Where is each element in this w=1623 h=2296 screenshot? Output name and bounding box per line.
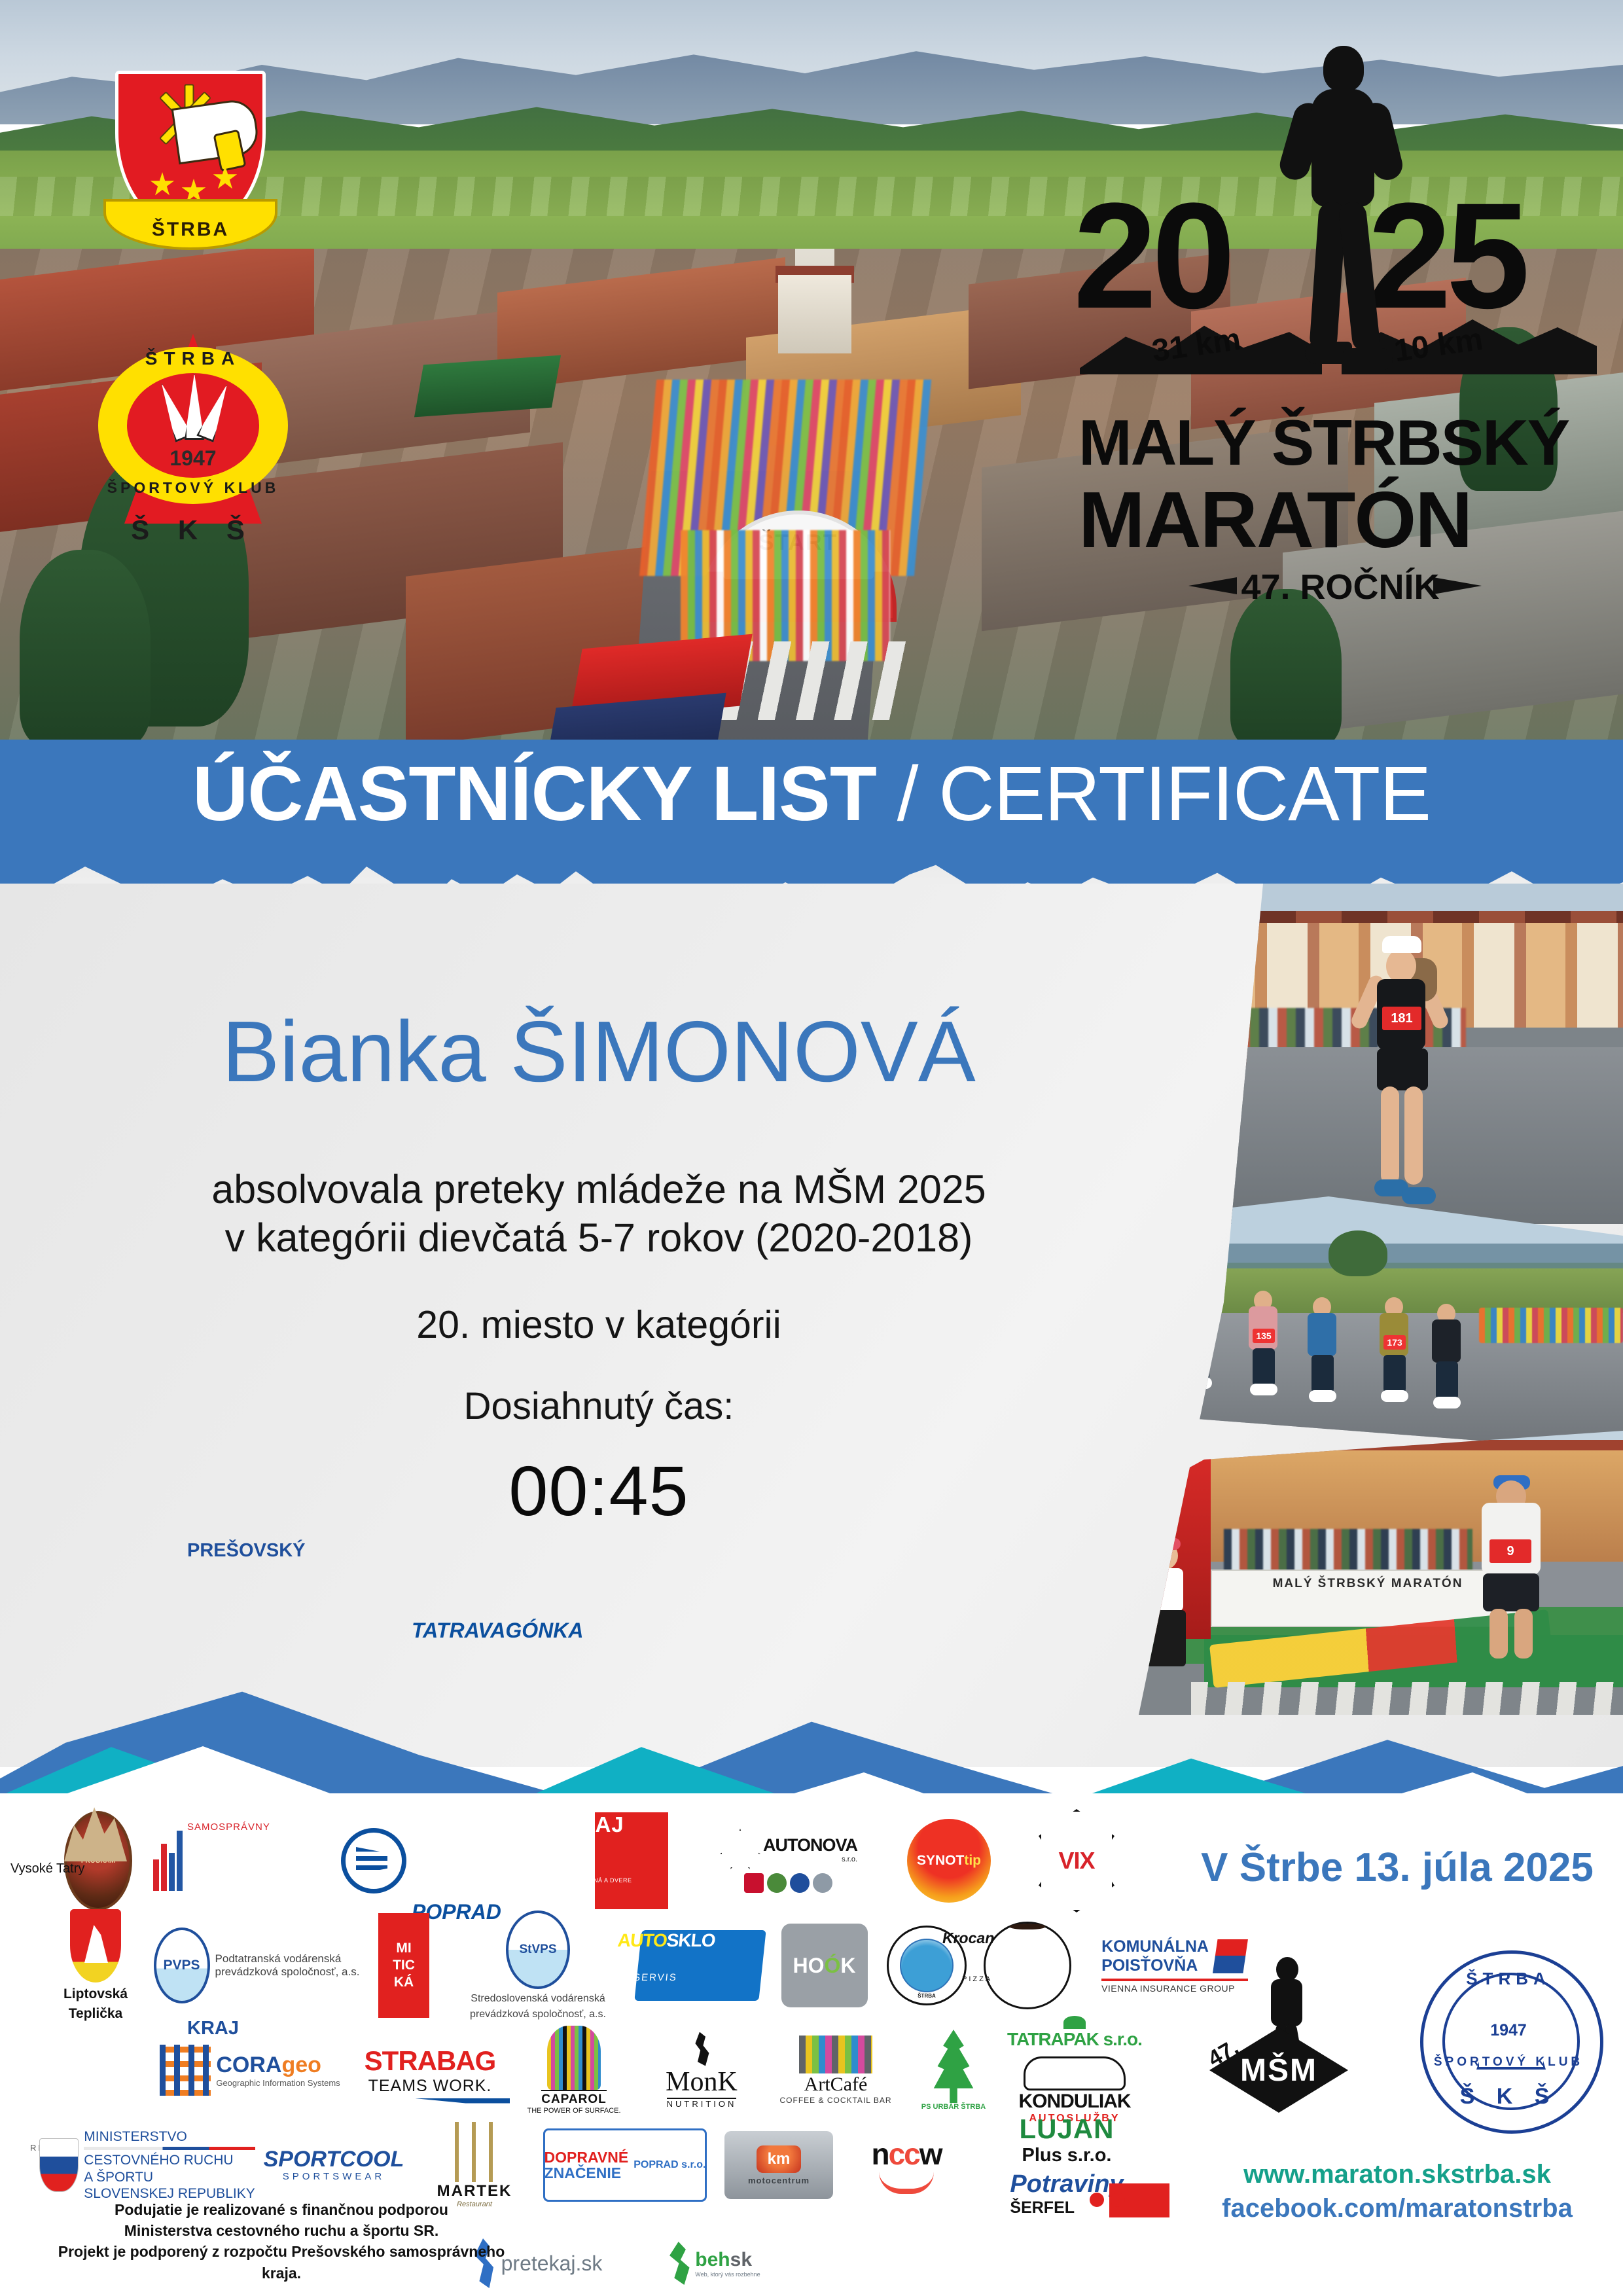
time-label: Dosiahnutý čas: — [98, 1384, 1099, 1428]
sponsor-stvps[interactable]: StVPS Stredoslovenská vodárenská prevádz… — [446, 1910, 630, 2021]
fineprint-line-1: Podujatie je realizované s finančnou pod… — [39, 2199, 524, 2220]
sponsor-presovsky-kraj[interactable]: PREŠOVSKÝ SAMOSPRÁVNY KRAJ — [157, 1805, 353, 1916]
event-edition-label: 47. ROČNÍK — [1079, 567, 1602, 607]
club-logo-top-text: ŠTRBA — [98, 348, 288, 369]
sponsor-logo: CORAgeo Geographic Information Systems — [160, 2045, 340, 2096]
runner-shoe-right — [1402, 1187, 1436, 1204]
sponsor-logo: Krocan PIZZA — [984, 1922, 1071, 2009]
sponsor-line-2: CESTOVNÉHO RUCHU — [84, 2152, 255, 2168]
sponsor-hook[interactable]: HOÓK — [770, 1910, 878, 2021]
runner-leg-right — [1404, 1086, 1423, 1185]
sponsor-line-1: km — [757, 2145, 801, 2173]
runner-shoes — [1433, 1397, 1461, 1408]
runner-singlet — [1482, 1503, 1541, 1575]
runner-torso — [1311, 89, 1374, 207]
sponsor-line-2: ZNAČENIE — [544, 2165, 629, 2181]
arm-icon — [171, 98, 261, 165]
sponsor-logo: STRABAG TEAMS WORK. — [365, 2045, 496, 2096]
slovak-coat-of-arms-icon — [39, 2138, 79, 2192]
footer-right-column: V Štrbe 13. júla 2025 MŠM 47. ŠTRBA — [1171, 1793, 1623, 2296]
page-title-slovak: ÚČASTNÍCKY LIST — [192, 751, 876, 837]
sponsor-line-2: tip — [964, 1853, 981, 1868]
sponsor-line-1: PS URBÁR ŠTRBA — [921, 2103, 986, 2111]
sponsor-logo: DOPRAVNÉ ZNAČENIE POPRAD s.r.o. — [543, 2128, 707, 2202]
runner-shoes — [1381, 1390, 1408, 1402]
coffee-cup-icon — [799, 2036, 872, 2073]
sponsor-miticka[interactable]: MI TIC KÁ — [361, 1910, 446, 2021]
dots-decoration — [1109, 2183, 1169, 2217]
time-value: 00:45 — [98, 1450, 1099, 1532]
sponsor-line-1: SYNOT — [917, 1853, 964, 1868]
car-icon — [1024, 2056, 1126, 2090]
sponsor-vysoke-tatry[interactable]: Vysoké Tatry REGIÓN — [39, 2015, 152, 2126]
runner-shoes — [1250, 1384, 1277, 1395]
sponsor-dopravne-znacenie[interactable]: DOPRAVNÉ ZNAČENIE POPRAD s.r.o. — [537, 2113, 713, 2217]
facebook-link[interactable]: facebook.com/maratonstrba — [1171, 2194, 1623, 2223]
tatravagonka-mark-icon — [341, 1828, 406, 1893]
website-link[interactable]: www.maraton.skstrba.sk — [1171, 2160, 1623, 2189]
sponsor-synottip[interactable]: SYNOTtip — [883, 1805, 1014, 1916]
divider — [84, 2147, 255, 2150]
page-title: ÚČASTNÍCKY LIST / CERTIFICATE — [0, 755, 1623, 833]
sponsor-logo: PVPS Podtatranská vodárenská prevádzková… — [154, 1928, 360, 2003]
sks-club-logo: ŠTRBA 1947 ŠPORTOVÝ KLUB Š K Š — [98, 308, 288, 556]
runner-top — [1249, 1306, 1277, 1350]
runner-head — [1276, 1957, 1298, 1982]
runner-legs — [1311, 1355, 1334, 1393]
placement-text: 20. miesto v kategórii — [98, 1302, 1099, 1347]
runner-icon — [666, 2242, 692, 2285]
sponsor-line-2: motocentrum — [748, 2176, 810, 2185]
sponsor-line-1: LUJAN — [1019, 2113, 1114, 2145]
runner-shorts — [1377, 1049, 1428, 1090]
sponsor-logo: MARTEK Restaurant — [437, 2122, 512, 2208]
sponsor-line-2: EUROOKNÁ A DVERE — [566, 1877, 697, 1909]
funding-fineprint: Podujatie je realizované s finančnou pod… — [39, 2199, 524, 2284]
sponsor-line-3: POPRAD s.r.o. — [633, 2159, 705, 2171]
runner-top — [1308, 1313, 1336, 1356]
sponsor-vix[interactable]: VIX — [1014, 1805, 1139, 1916]
sponsor-ps-urbar-strba[interactable]: PS URBÁR ŠTRBA — [904, 2015, 1003, 2126]
crest-village-label: ŠTRBA — [106, 219, 275, 241]
sponsor-line-2: NUTRITION — [667, 2098, 737, 2109]
sponsor-corageo[interactable]: CORAgeo Geographic Information Systems — [152, 2015, 348, 2126]
sponsor-line-1: MI — [396, 1941, 411, 1956]
sponsor-logo: MonK NUTRITION — [666, 2032, 738, 2109]
sponsor-line-1: beh — [695, 2249, 730, 2270]
sponsor-line-1: VIX — [1058, 1847, 1094, 1874]
smile-icon — [879, 2172, 934, 2194]
sponsor-line-1b: geo — [281, 2053, 321, 2077]
sponsor-line-1: SPORTCOOL — [264, 2148, 404, 2172]
star-icon — [213, 166, 238, 190]
sponsor-logo: PS URBÁR ŠTRBA — [921, 2030, 986, 2111]
sponsor-artcafe[interactable]: ArtCafé COFFEE & COCKTAIL BAR — [767, 2015, 904, 2126]
sponsor-line-2: TIC — [393, 1958, 415, 1973]
car-brand-badges — [744, 1873, 832, 1893]
sponsor-line-1: HO — [793, 1954, 825, 1977]
certificate-page: ŠTART ŠTRBA — [0, 0, 1623, 2296]
sponsor-logo: AUTOSKLO SERVIS — [634, 1930, 766, 2001]
sponsor-line-1: KUNAJ — [546, 1812, 717, 1859]
sponsor-logo: CAPAROL THE POWER OF SURFACE. — [527, 2026, 620, 2115]
sponsor-logo: AUTONOVA s.r.o. — [720, 1829, 857, 1893]
sponsor-krocan-pizza[interactable]: Krocan PIZZA — [975, 1910, 1080, 2021]
sponsor-line-1b: sk — [730, 2249, 752, 2270]
runner-head — [1323, 46, 1364, 92]
cutlery-icon — [448, 2122, 501, 2182]
sponsor-pvps[interactable]: PVPS Podtatranská vodárenská prevádzková… — [152, 1910, 361, 2021]
sponsor-line-1: TATRAVAGÓNKA — [412, 1619, 582, 1900]
sponsor-line-2: Stredoslovenská vodárenská — [471, 1993, 605, 2005]
runner-leg-left — [1381, 1086, 1399, 1185]
description-line-2: v kategórii dievčatá 5-7 rokov (2020-201… — [98, 1213, 1099, 1262]
turkey-icon — [1010, 1924, 1045, 1929]
event-name-line2: MARATÓN — [1079, 474, 1602, 565]
church-building — [776, 249, 854, 353]
elephant-icon — [547, 2026, 601, 2090]
runner-head — [1386, 949, 1416, 983]
sponsor-line-2: s.r.o. — [763, 1856, 857, 1863]
sponsor-line-2: PIZZA — [962, 1975, 1093, 2007]
sponsor-autonova[interactable]: AUTONOVA s.r.o. — [694, 1805, 883, 1916]
sponsor-line-1: KONDULIAK — [1019, 2090, 1131, 2113]
sponsor-line-2: ŠTRBA — [889, 1993, 965, 1999]
event-year-left: 20 — [1073, 181, 1230, 331]
runner: 173 — [1374, 1295, 1414, 1406]
gift-bow-icon — [1063, 2016, 1086, 2029]
mountain-peaks-icon — [64, 1801, 127, 1861]
race-bib-number: 173 — [1383, 1335, 1406, 1350]
sponsor-beh-sk[interactable]: behsk Web, ktorý vás rozbehne — [628, 2224, 798, 2296]
sponsor-line-3: prevádzková spoločnosť, a.s. — [215, 1965, 360, 1979]
sponsor-line-1c: w — [919, 2137, 942, 2171]
runner-legs — [1436, 1361, 1458, 1399]
sponsor-logo: HOÓK — [781, 1924, 868, 2007]
club-logo-mid-text: ŠPORTOVÝ KLUB — [98, 479, 288, 497]
race-bib-number: 9 — [1489, 1539, 1531, 1563]
sponsor-line-2: Geographic Information Systems — [216, 2078, 340, 2088]
sponsor-strabag[interactable]: STRABAG TEAMS WORK. — [348, 2015, 512, 2126]
sponsor-line-1b: SKLO — [666, 1930, 716, 1950]
sponsor-line-1c: K — [840, 1954, 855, 1977]
fir-tree-icon — [930, 2030, 977, 2103]
sponsor-row-3: Vysoké Tatry REGIÓN CORAgeo Geographic I… — [39, 2015, 1165, 2126]
sponsor-autosklo-servis[interactable]: AUTOSKLO SERVIS — [630, 1910, 770, 2021]
sponsor-line-1: STRABAG — [365, 2045, 496, 2077]
female-runner: 181 — [1348, 936, 1453, 1211]
sponsor-ncow[interactable]: nccw — [844, 2113, 969, 2217]
runner-legs — [1383, 1355, 1406, 1393]
stamp-bottom-text: Š K Š — [1420, 2084, 1597, 2109]
sponsor-logo: nccw — [871, 2136, 941, 2194]
sponsor-line-2: SERVIS — [631, 1972, 765, 2001]
sponsor-footer: PROGRAM PREŠOVSKÝ SAMOSPRÁVNY KRAJ — [0, 1793, 1623, 2296]
sponsor-logo: VIX — [1039, 1809, 1115, 1912]
runner-pack — [1479, 1308, 1623, 1343]
stamp-year: 1947 — [1420, 2021, 1597, 2040]
tree — [1329, 1230, 1387, 1276]
tree — [20, 550, 151, 740]
runner-legs — [1253, 1348, 1275, 1386]
spectators — [1224, 1529, 1472, 1575]
runner-shoe-right — [1343, 348, 1393, 370]
race-bib-number: 181 — [1382, 1007, 1421, 1030]
sponsor-bottom-stack: LUJAN Plus s.r.o. Potraviny ŠERFEL — [969, 2113, 1165, 2217]
msm-stamp: MŠM 47. — [1203, 1957, 1353, 2121]
sponsor-line-2: COFFEE & COCKTAIL BAR — [779, 2096, 891, 2105]
club-logo-bottom-text: Š K Š — [98, 514, 288, 546]
sponsor-line-1: DOPRAVNÉ — [544, 2149, 629, 2166]
sponsor-line-2: SPORTSWEAR — [283, 2172, 385, 2182]
sponsor-lujan-plus[interactable]: LUJAN Plus s.r.o. — [1019, 2113, 1114, 2166]
hero-aerial-photo: ŠTART ŠTRBA — [0, 0, 1623, 740]
runner-leg-right — [1514, 1609, 1533, 1659]
title-banner: ÚČASTNÍCKY LIST / CERTIFICATE — [0, 740, 1623, 884]
sponsor-line-2: Web, ktorý vás rozbehne — [695, 2271, 760, 2278]
star-icon — [150, 172, 175, 197]
page-title-separator: / — [876, 751, 938, 837]
runner-top — [1380, 1313, 1408, 1356]
description-line-1: absolvovala preteky mládeže na MŠM 2025 — [98, 1165, 1099, 1213]
grid-icon — [160, 2045, 211, 2096]
event-name-line1: MALÝ ŠTRBSKÝ — [1079, 406, 1602, 480]
sponsor-line-1: MINISTERSTVO — [84, 2128, 255, 2145]
runner-visor — [1382, 936, 1421, 953]
sponsor-km-motocentrum[interactable]: km motocentrum — [713, 2113, 844, 2217]
sponsor-logo: SPORTCOOL SPORTSWEAR — [264, 2148, 404, 2181]
sponsor-line-1: MonK — [666, 2066, 738, 2098]
sks-official-stamp: ŠTRBA 1947 ŠPORTOVÝ KLUB Š K Š — [1420, 1950, 1597, 2127]
sponsor-line-1: CORA — [216, 2053, 281, 2077]
sponsor-line-3: KÁ — [394, 1975, 414, 1990]
placement-block: 20. miesto v kategórii — [98, 1302, 1099, 1347]
sponsor-line-2: Podtatranská vodárenská — [215, 1952, 360, 1965]
participant-name: Bianka ŠIMONOVÁ — [98, 1008, 1099, 1096]
winning-runner: 9 — [1459, 1470, 1584, 1660]
runner-leg-left — [1489, 1609, 1508, 1659]
sponsor-line-2: Plus s.r.o. — [1022, 2145, 1111, 2166]
sponsor-line-1: AUTONOVA — [763, 1835, 857, 1856]
runner-torso — [1271, 1979, 1302, 2026]
sponsor-logo: km motocentrum — [724, 2131, 833, 2199]
church-nave — [778, 275, 851, 353]
stamp-top-text: ŠTRBA — [1420, 1969, 1597, 1989]
event-logo: 20 25 31 km 10 km MALÝ ŠTRBSKÝ MARATÓN 4… — [1067, 39, 1610, 622]
sponsor-line-1b: cc — [889, 2137, 919, 2171]
runner-leg-right — [1338, 200, 1381, 353]
sponsor-line-1: Potraviny — [1010, 2170, 1123, 2198]
page-title-english: CERTIFICATE — [938, 751, 1431, 837]
photo-finish-line-winner: MALÝ ŠTRBSKÝ MARATÓN 9 — [1113, 1431, 1623, 1715]
sponsor-logo: MI TIC KÁ — [378, 1913, 429, 2018]
water-drop-icon: StVPS — [506, 1910, 570, 1989]
fineprint-line-3: Projekt je podporený z rozpočtu Prešovsk… — [39, 2241, 524, 2283]
sponsor-line-2: TEAMS WORK. — [368, 2077, 492, 2096]
description-block: absolvovala preteky mládeže na MŠM 2025 … — [98, 1165, 1099, 1263]
sponsor-line-1b: Ó — [825, 1954, 841, 1977]
sponsor-logo: StVPS Stredoslovenská vodárenská prevádz… — [470, 1910, 606, 2020]
green-tent — [414, 355, 561, 418]
stamp-mid-text: ŠPORTOVÝ KLUB — [1420, 2055, 1597, 2070]
crest-ribbon: ŠTRBA — [103, 199, 277, 250]
runner — [1427, 1301, 1466, 1412]
sponsor-line-1: PREŠOVSKÝ — [187, 1540, 357, 1821]
runner-icon — [692, 2032, 711, 2066]
sponsor-tatrapak[interactable]: TATRAPAK s.r.o. — [1007, 2016, 1142, 2050]
club-logo-year: 1947 — [98, 446, 288, 471]
sponsor-line-3: A ŠPORTU — [84, 2169, 255, 2185]
issue-date: V Štrbe 13. júla 2025 — [1171, 1844, 1623, 1891]
runner: 135 — [1243, 1288, 1283, 1399]
sponsor-line-1: MARTEK — [437, 2182, 512, 2200]
sponsor-row-2: Liptovská Teplička PVPS Podtatranská vod… — [39, 1910, 1165, 2021]
participant-name-block: Bianka ŠIMONOVÁ — [98, 1008, 1099, 1096]
sponsor-logo: MINISTERSTVO CESTOVNÉHO RUCHU A ŠPORTU S… — [39, 2128, 255, 2202]
sponsor-logo: ArtCafé COFFEE & COCKTAIL BAR — [779, 2036, 891, 2105]
sponsor-kunaj[interactable]: KUNAJ EUROOKNÁ A DVERE — [569, 1805, 694, 1916]
sponsor-potraviny-serfel[interactable]: Potraviny ŠERFEL — [1010, 2170, 1123, 2217]
sponsor-logo: SYNOTtip — [907, 1819, 991, 1903]
sponsor-line-1: StVPS — [519, 1943, 556, 1957]
sponsor-monk-nutrition[interactable]: MonK NUTRITION — [636, 2015, 767, 2126]
sponsor-logo: behsk Web, ktorý vás rozbehne — [666, 2242, 760, 2285]
strba-coat-of-arms: ŠTRBA — [115, 71, 266, 267]
sponsor-tatravagonka-poprad[interactable]: TATRAVAGÓNKA POPRAD — [353, 1805, 569, 1916]
sponsor-line-1: TATRAPAK s.r.o. — [1007, 2029, 1142, 2050]
sponsor-line-1: AUTO — [616, 1930, 668, 1950]
sponsor-row-1: PROGRAM PREŠOVSKÝ SAMOSPRÁVNY KRAJ — [39, 1805, 1165, 1916]
runner-shorts — [1483, 1573, 1539, 1611]
runner — [1302, 1295, 1342, 1406]
runner-top — [1432, 1319, 1461, 1363]
sponsor-logo: KUNAJ EUROOKNÁ A DVERE — [595, 1812, 668, 1909]
sponsor-caparol[interactable]: CAPAROL THE POWER OF SURFACE. — [512, 2015, 636, 2126]
sponsor-line-1: CAPAROL — [541, 2090, 607, 2107]
sponsor-line-2: ŠERFEL — [1010, 2198, 1075, 2217]
sponsor-tatrapak-konduliak-stack: TATRAPAK s.r.o. KONDULIAK AUTOSLUŽBY — [1003, 2015, 1147, 2126]
sponsor-line-1: n — [871, 2137, 888, 2171]
sponsor-logo-grid: PROGRAM PREŠOVSKÝ SAMOSPRÁVNY KRAJ — [39, 1805, 1165, 2211]
fineprint-line-2: Ministerstva cestovného ruchu a športu S… — [39, 2220, 524, 2241]
race-bib-number: 135 — [1253, 1329, 1275, 1343]
starburst-icon — [720, 1829, 760, 1869]
runner-silhouette-icon — [1283, 46, 1400, 386]
runner-shoes — [1309, 1390, 1336, 1402]
sponsor-line-1: ArtCafé — [804, 2073, 868, 2096]
